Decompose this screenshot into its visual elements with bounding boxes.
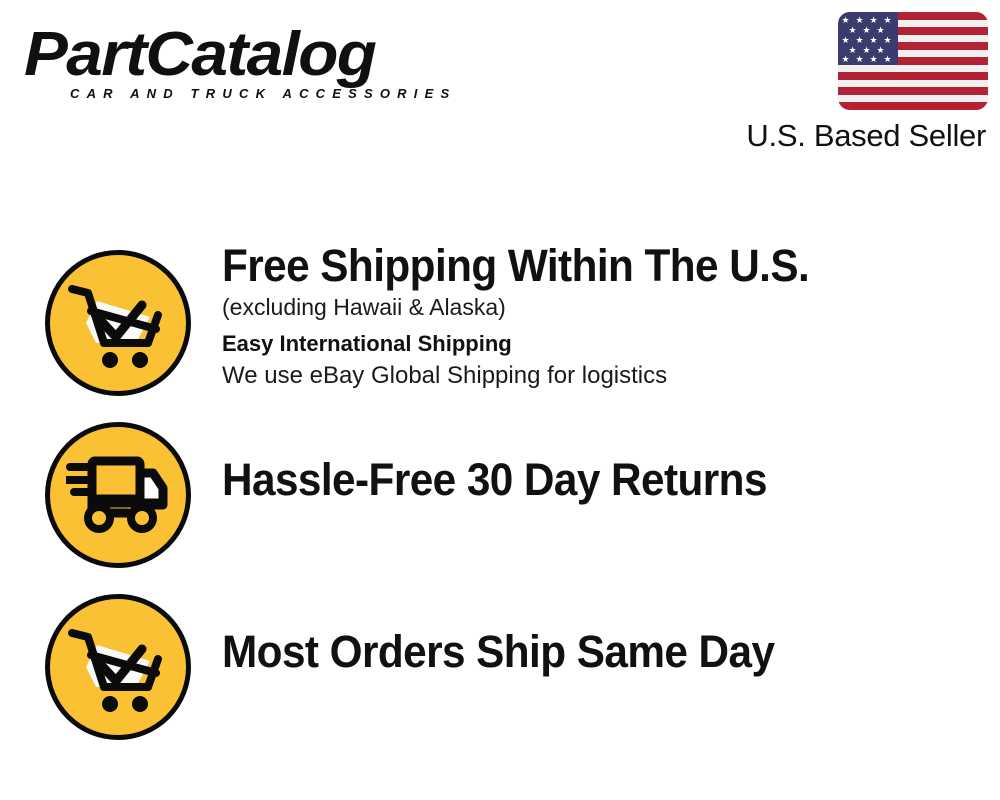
flag-star: ★ xyxy=(883,55,892,64)
feature-subtext-strong: Easy International Shipping xyxy=(222,329,982,359)
feature-text-block: Free Shipping Within The U.S. (excluding… xyxy=(222,240,982,392)
feature-text-block: Hassle-Free 30 Day Returns xyxy=(222,454,982,506)
flag-canton: ★ ★ ★ ★ ★ ★ ★ ★ ★ ★ ★ ★ ★ ★ ★ ★ ★ ★ xyxy=(838,12,898,65)
flag-star: ★ xyxy=(883,36,892,45)
shopping-cart-check-icon xyxy=(45,594,191,740)
flag-star: ★ xyxy=(855,36,864,45)
flag-stripe xyxy=(838,87,988,95)
flag-star: ★ xyxy=(869,16,878,25)
flag-stripe xyxy=(838,102,988,110)
feature-text-block: Most Orders Ship Same Day xyxy=(222,626,982,678)
delivery-truck-icon xyxy=(45,422,191,568)
flag-star: ★ xyxy=(883,16,892,25)
feature-headline: Hassle-Free 30 Day Returns xyxy=(222,454,936,506)
feature-row: Most Orders Ship Same Day xyxy=(0,584,1000,754)
shopping-cart-check-icon xyxy=(45,250,191,396)
feature-row: Hassle-Free 30 Day Returns xyxy=(0,412,1000,582)
feature-subtext: (excluding Hawaii & Alaska) xyxy=(222,292,982,323)
flag-stripe xyxy=(838,72,988,80)
flag-star: ★ xyxy=(841,16,850,25)
feature-headline: Free Shipping Within The U.S. xyxy=(222,240,936,292)
brand-wordmark: PartCatalog xyxy=(24,22,522,88)
flag-star: ★ xyxy=(841,55,850,64)
flag-star: ★ xyxy=(841,36,850,45)
flag-star: ★ xyxy=(869,55,878,64)
banner-header: PartCatalog CAR AND TRUCK ACCESSORIES ★ … xyxy=(0,0,1000,175)
feature-subtext-detail: We use eBay Global Shipping for logistic… xyxy=(222,359,982,392)
us-flag-icon: ★ ★ ★ ★ ★ ★ ★ ★ ★ ★ ★ ★ ★ ★ ★ ★ ★ ★ xyxy=(838,12,988,110)
feature-headline: Most Orders Ship Same Day xyxy=(222,626,936,678)
flag-star: ★ xyxy=(876,26,885,35)
brand-logo: PartCatalog CAR AND TRUCK ACCESSORIES xyxy=(24,22,494,117)
flag-star: ★ xyxy=(855,55,864,64)
flag-star: ★ xyxy=(848,26,857,35)
feature-row: Free Shipping Within The U.S. (excluding… xyxy=(0,240,1000,410)
flag-star: ★ xyxy=(869,36,878,45)
flag-star: ★ xyxy=(862,26,871,35)
seller-location-label: U.S. Based Seller xyxy=(746,118,986,154)
flag-star: ★ xyxy=(855,16,864,25)
